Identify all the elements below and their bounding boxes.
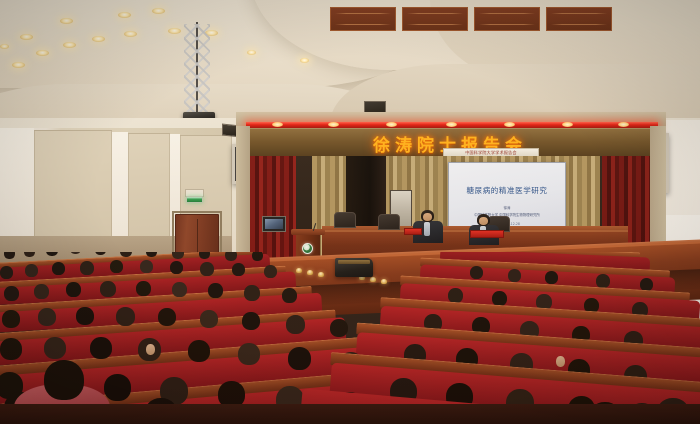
proscenium-pillar-right: [650, 126, 666, 246]
audience-head: [252, 252, 263, 261]
audience-head: [242, 312, 260, 330]
audience-head: [24, 252, 35, 257]
audience-head: [46, 252, 58, 256]
scissor-lift-mount: [184, 24, 210, 116]
downlight-icon: [124, 31, 137, 37]
auditorium-photo: 徐涛院士报告会 中国科学院大学学术报告会 糖尿病的精准医学研究 徐涛 中国科学院…: [0, 0, 700, 424]
downlight-icon: [20, 34, 33, 40]
downlight-icon: [12, 62, 25, 68]
downlight-icon: [118, 12, 131, 18]
downlight-icon: [0, 44, 9, 49]
audience-head: [90, 337, 112, 359]
audience-head: [70, 252, 81, 254]
audience-head: [104, 374, 131, 401]
audience-head: [100, 281, 116, 297]
downlight-icon: [168, 28, 181, 34]
audience-head: [34, 284, 49, 299]
audience-head: [170, 261, 183, 274]
slide-speaker: 徐涛: [449, 205, 565, 210]
audience-head: [116, 307, 135, 326]
audience-head: [208, 283, 223, 298]
audience-head: [52, 262, 65, 275]
clapping-hand: [146, 344, 155, 355]
proscenium-pillar-left: [236, 126, 250, 272]
audience-head: [140, 260, 153, 273]
wall-panel: [128, 133, 170, 239]
downlight-icon: [152, 8, 165, 14]
nameplate: [404, 228, 422, 235]
audience-head: [282, 288, 297, 303]
audience-head: [188, 340, 210, 362]
audience-head: [158, 308, 176, 326]
floor: [0, 404, 700, 424]
audience-head: [225, 252, 237, 261]
audience-head: [232, 263, 245, 276]
audience-head: [200, 262, 214, 276]
audience-head: [238, 343, 260, 365]
wall-panel: [34, 130, 112, 240]
audience-head: [244, 285, 260, 301]
audience-head: [66, 282, 81, 297]
table-panel: [474, 7, 540, 31]
table-panel: [402, 7, 468, 31]
chair-back: [378, 214, 400, 230]
wall-panel: [112, 132, 128, 240]
downlight-icon: [63, 42, 76, 48]
audience-head: [136, 281, 151, 296]
audience-head: [80, 261, 94, 275]
downlight-icon: [300, 58, 309, 63]
audience-head: [110, 260, 123, 273]
audience-head: [545, 271, 558, 284]
downlight-icon: [60, 18, 73, 24]
slide-title: 糖尿病的精准医学研究: [449, 185, 565, 196]
downlight-icon: [36, 50, 49, 56]
exit-sign-icon: [186, 196, 203, 203]
audience-head: [330, 319, 348, 337]
audience-head: [288, 347, 311, 370]
audience-head: [2, 310, 20, 328]
audience-head: [44, 337, 66, 359]
audience-head: [596, 274, 610, 288]
downlight-icon: [92, 36, 105, 42]
table-panel: [546, 7, 612, 31]
stage-confidence-monitor: [262, 216, 286, 232]
audience-head: [470, 266, 483, 279]
audience-head: [4, 252, 15, 259]
chair-back: [334, 212, 356, 228]
audience-head: [25, 264, 38, 277]
audience-head: [38, 308, 56, 326]
audience-head: [508, 269, 521, 282]
audience-head: [0, 338, 22, 360]
wall-panel: [0, 128, 34, 240]
foreground-person-head: [44, 360, 84, 400]
audience-head: [95, 252, 106, 255]
nameplate: [470, 230, 504, 238]
audience-head: [4, 286, 19, 301]
audience-head: [172, 282, 187, 297]
audience-head: [286, 315, 305, 334]
clapping-hand: [556, 356, 565, 367]
audience-area: [0, 252, 700, 424]
table-panel: [330, 7, 396, 31]
audience-head: [264, 265, 277, 278]
audience-head: [200, 310, 218, 328]
audience-head: [0, 266, 13, 279]
downlight-icon: [247, 50, 256, 55]
audience-head: [76, 307, 94, 325]
